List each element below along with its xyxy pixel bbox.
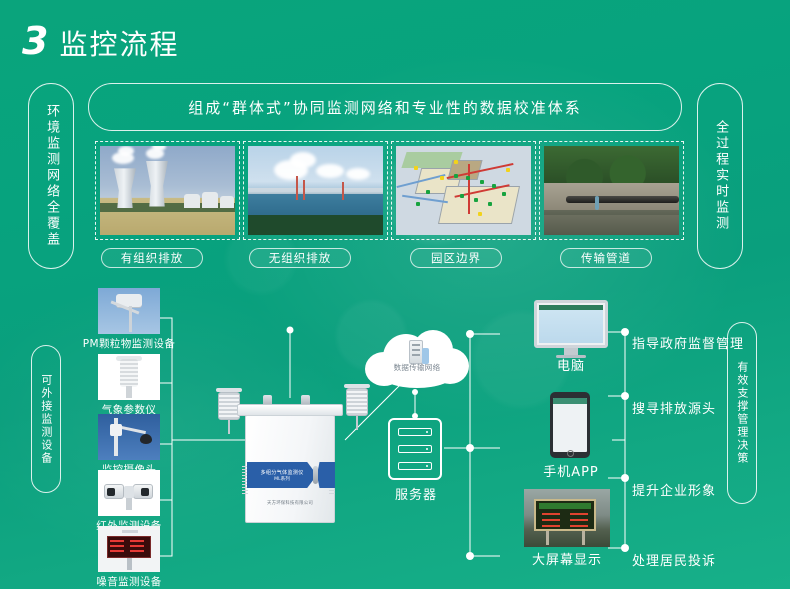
photo-caption-1-text: 有组织排放 <box>121 250 184 266</box>
photo-caption-1: 有组织排放 <box>101 248 203 268</box>
photo-caption-3: 园区边界 <box>410 248 502 268</box>
pm-sensor-photo <box>98 288 160 334</box>
device-item-1: PM颗粒物监测设备 <box>74 288 184 351</box>
cabinet-product-name: 多组分气体监测仪 <box>260 469 303 476</box>
cabinet-product-badge: 多组分气体监测仪 ML系列 <box>247 462 317 488</box>
output-label-3: 大屏幕显示 <box>517 549 617 568</box>
weather-sensor-photo <box>98 354 160 400</box>
led-billboard <box>524 489 610 547</box>
cloud-label: 数据传输网络 <box>365 362 469 373</box>
vertical-label-right-top-text: 全过程实时监测 <box>712 120 728 232</box>
monitoring-cabinet: 多组分气体监测仪 ML系列 天方环保科技有限公司 <box>243 404 337 526</box>
device-item-4: 红外监测设备 <box>74 470 184 533</box>
benefit-item-4: 处理居民投诉 <box>632 550 716 569</box>
photo-tile-1 <box>95 141 240 240</box>
mobile-phone <box>550 392 590 458</box>
benefit-item-2: 搜寻排放源头 <box>632 398 716 417</box>
photo-caption-2-text: 无组织排放 <box>269 250 332 266</box>
vertical-label-right-top: 全过程实时监测 <box>697 83 743 269</box>
data-network-cloud: 数据传输网络 <box>365 330 469 392</box>
cabinet-company: 天方环保科技有限公司 <box>243 500 337 506</box>
photo-caption-3-text: 园区边界 <box>431 250 481 266</box>
cabinet-model: ML系列 <box>274 476 290 482</box>
pipeline-photo <box>544 146 679 235</box>
photo-tile-3 <box>391 141 536 240</box>
page-title: 3 监控流程 <box>22 22 179 63</box>
surveillance-camera-photo <box>98 414 160 460</box>
photo-tile-2 <box>243 141 388 240</box>
device-item-3: 监控摄像头 <box>74 414 184 477</box>
benefit-item-1: 指导政府监督管理 <box>632 333 744 352</box>
output-label-2: 手机APP <box>525 461 617 480</box>
headline-banner-text: 组成“群体式”协同监测网络和专业性的数据校准体系 <box>188 97 582 118</box>
photo-caption-4: 传输管道 <box>560 248 652 268</box>
section-number: 3 <box>22 22 47 60</box>
infrared-camera-photo <box>98 470 160 516</box>
server-icon <box>388 418 442 480</box>
photo-caption-2: 无组织排放 <box>249 248 351 268</box>
device-label-5: 噪音监测设备 <box>74 574 184 589</box>
noise-monitor-photo <box>98 526 160 572</box>
output-label-1: 电脑 <box>534 355 608 374</box>
device-item-2: 气象参数仪 <box>74 354 184 417</box>
headline-banner: 组成“群体式”协同监测网络和专业性的数据校准体系 <box>88 83 682 131</box>
desktop-monitor <box>534 300 608 358</box>
device-item-5: 噪音监测设备 <box>74 526 184 589</box>
benefit-item-3: 提升企业形象 <box>632 480 716 499</box>
site-map-photo <box>396 146 531 235</box>
vertical-label-left-top-text: 环境监测网络全覆盖 <box>43 104 59 248</box>
section-title: 监控流程 <box>59 23 179 63</box>
slide-canvas: 3 监控流程 组成“群体式”协同监测网络和专业性的数据校准体系 环境监测网络全覆… <box>0 0 790 589</box>
photo-caption-4-text: 传输管道 <box>581 250 631 266</box>
vertical-label-left-top: 环境监测网络全覆盖 <box>28 83 74 269</box>
vertical-label-left-bottom-text: 可外接监测设备 <box>39 374 53 465</box>
server-label: 服务器 <box>370 484 462 503</box>
vertical-label-left-bottom: 可外接监测设备 <box>31 345 61 493</box>
cloud-server-icon <box>409 340 423 364</box>
industrial-waterfront-photo <box>248 146 383 235</box>
device-label-1: PM颗粒物监测设备 <box>74 336 184 351</box>
photo-tile-4 <box>539 141 684 240</box>
cooling-towers-photo <box>100 146 235 235</box>
vertical-label-right-bottom-text: 有效支撑管理决策 <box>735 361 749 465</box>
